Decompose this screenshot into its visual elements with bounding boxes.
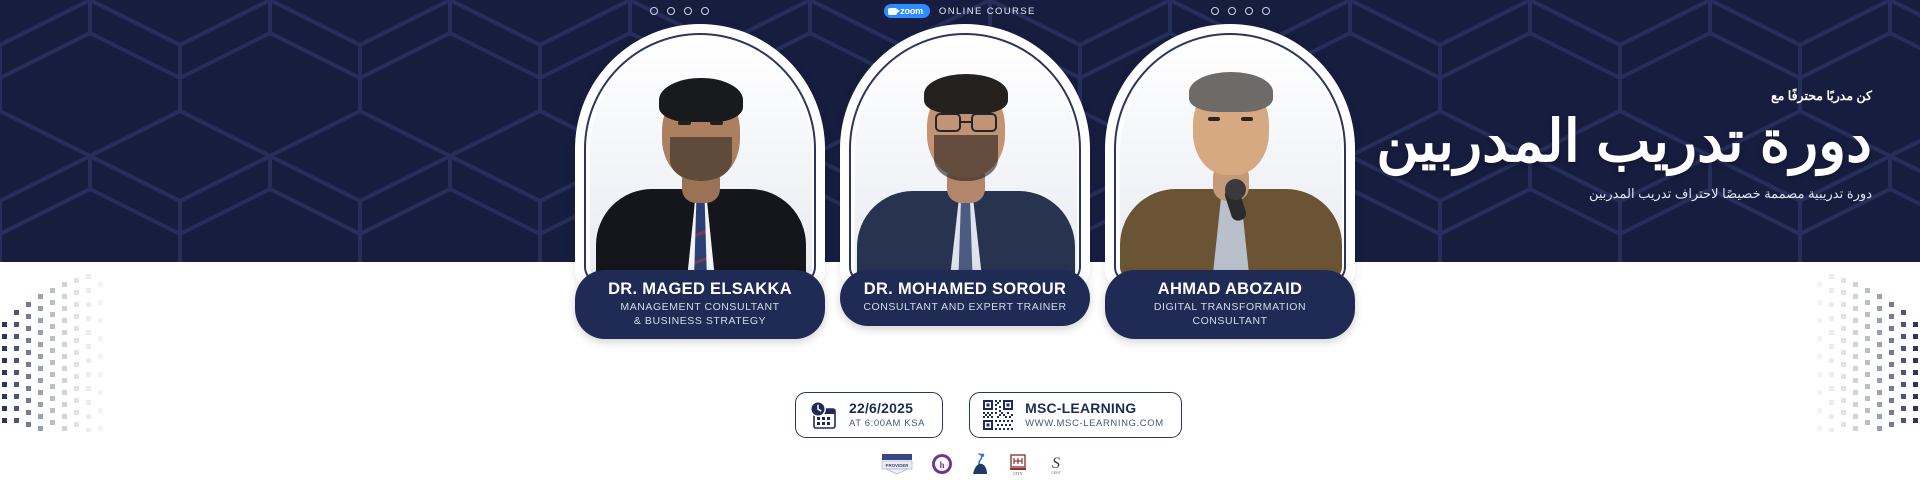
speaker-name: DR. MAGED ELSAKKA <box>585 280 815 298</box>
speaker-role-line1: DIGITAL TRANSFORMATION <box>1115 301 1345 314</box>
speaker-role-line2: & BUSINESS STRATEGY <box>585 315 815 328</box>
calendar-clock-icon <box>808 401 838 429</box>
headline-kicker: كن مدربًا محترفًا مع <box>1312 88 1872 103</box>
event-time: AT 6:00AM KSA <box>849 418 925 429</box>
speaker-photo <box>855 39 1077 279</box>
speaker-name: DR. MOHAMED SOROUR <box>850 280 1080 298</box>
dot-icon <box>667 7 675 15</box>
brand-card-text: MSC-LEARNING WWW.MSC-LEARNING.COM <box>1025 400 1164 429</box>
brand-card[interactable]: MSC-LEARNING WWW.MSC-LEARNING.COM <box>969 392 1182 438</box>
decorative-dots-left <box>650 7 709 15</box>
svg-text:PROVIDER: PROVIDER <box>886 463 910 468</box>
speakers-row: DR. MAGED ELSAKKA MANAGEMENT CONSULTANT … <box>575 24 1365 354</box>
dot-icon <box>684 7 692 15</box>
event-date: 22/6/2025 <box>849 400 925 416</box>
svg-text:CERT: CERT <box>1051 471 1062 475</box>
speaker-name-pill: DR. MAGED ELSAKKA MANAGEMENT CONSULTANT … <box>575 270 825 339</box>
speaker-role-line1: MANAGEMENT CONSULTANT <box>585 301 815 314</box>
speaker-role-line2: CONSULTANT <box>1115 315 1345 328</box>
speaker-name: AHMAD ABOZAID <box>1115 280 1345 298</box>
speaker-name-pill: DR. MOHAMED SOROUR CONSULTANT AND EXPERT… <box>840 270 1090 326</box>
purple-circle-h-logo: h <box>931 453 953 480</box>
speaker-card: DR. MOHAMED SOROUR CONSULTANT AND EXPERT… <box>840 24 1090 354</box>
zoom-online-course-badge: zoom ONLINE COURSE <box>884 4 1036 18</box>
brand-name: MSC-LEARNING <box>1025 400 1164 416</box>
speaker-photo <box>1120 39 1342 279</box>
blue-figure-logo <box>970 452 990 480</box>
dot-grid-decoration-left <box>0 262 160 432</box>
portrait-frame <box>840 24 1090 292</box>
headline-subtitle: دورة تدريبية مصممة خصيصًا لاحتراف تدريب … <box>1312 186 1872 202</box>
university-crest-logo: CITY <box>1007 452 1029 480</box>
svg-text:CITY: CITY <box>1013 471 1022 476</box>
portrait-ring <box>584 33 816 283</box>
speaker-name-pill: AHMAD ABOZAID DIGITAL TRANSFORMATION CON… <box>1105 270 1355 339</box>
qr-code-icon[interactable] <box>982 399 1014 431</box>
zoom-logo-label: zoom <box>900 6 923 16</box>
date-card[interactable]: 22/6/2025 AT 6:00AM KSA <box>795 392 943 438</box>
approved-provider-badge-logo: PROVIDER <box>880 453 914 480</box>
dot-icon <box>701 7 709 15</box>
promo-banner: zoom ONLINE COURSE <box>0 0 1920 480</box>
info-cards-row: 22/6/2025 AT 6:00AM KSA <box>795 392 1182 438</box>
accreditation-logos: PROVIDER h CITY <box>880 452 1066 480</box>
script-s-logo: S CERT <box>1046 452 1066 480</box>
svg-text:h: h <box>939 460 944 470</box>
page-title: دورة تدريب المدربين <box>1312 111 1872 174</box>
speaker-photo <box>590 39 812 279</box>
dot-icon <box>1228 7 1236 15</box>
online-course-label: ONLINE COURSE <box>939 6 1036 17</box>
date-card-text: 22/6/2025 AT 6:00AM KSA <box>849 400 925 429</box>
portrait-ring <box>849 33 1081 283</box>
dot-icon <box>650 7 658 15</box>
speaker-card: DR. MAGED ELSAKKA MANAGEMENT CONSULTANT … <box>575 24 825 354</box>
svg-text:S: S <box>1052 455 1060 472</box>
headline-block: كن مدربًا محترفًا مع دورة تدريب المدربين… <box>1312 88 1872 202</box>
dot-icon <box>1211 7 1219 15</box>
dot-icon <box>1245 7 1253 15</box>
dot-grid-decoration-right <box>1760 262 1920 432</box>
decorative-dots-right <box>1211 7 1270 15</box>
portrait-frame <box>575 24 825 292</box>
brand-website: WWW.MSC-LEARNING.COM <box>1025 418 1164 429</box>
video-camera-icon <box>888 8 897 15</box>
speaker-role-line1: CONSULTANT AND EXPERT TRAINER <box>850 301 1080 314</box>
dot-icon <box>1262 7 1270 15</box>
top-decoration-bar: zoom ONLINE COURSE <box>0 0 1920 22</box>
zoom-logo: zoom <box>884 4 930 18</box>
